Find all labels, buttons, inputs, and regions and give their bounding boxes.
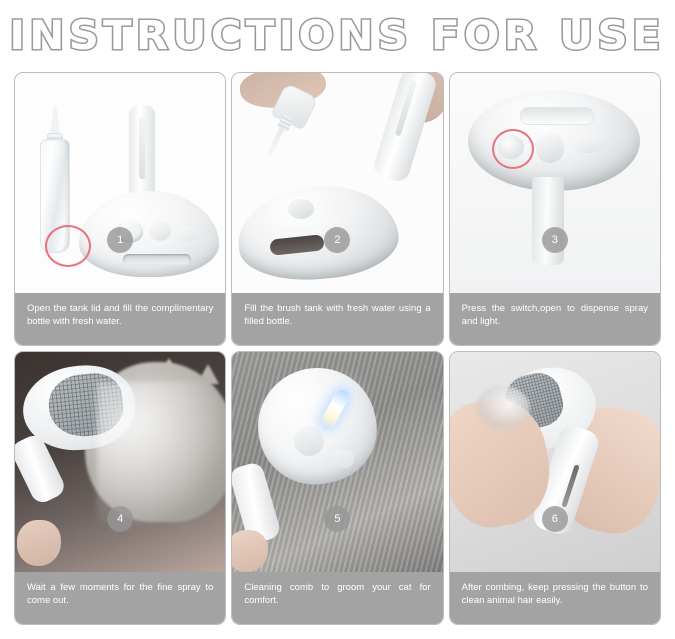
highlight-ring-icon bbox=[45, 225, 91, 267]
steps-grid: 1 Open the tank lid and fill the complim… bbox=[0, 72, 675, 639]
page-title: INSTRUCTIONS FOR USE bbox=[10, 13, 665, 59]
brush-vent-icon bbox=[520, 107, 594, 125]
step-caption-3: Press the switch,open to dispense spray … bbox=[450, 293, 660, 345]
step-caption-5: Cleaning comb to groom your cat for comf… bbox=[232, 572, 442, 624]
header: INSTRUCTIONS FOR USE bbox=[0, 0, 675, 72]
hand-icon bbox=[17, 520, 61, 566]
step-photo-2: 2 bbox=[232, 73, 442, 293]
step-badge-6: 6 bbox=[542, 506, 568, 532]
step-card-5: 5 Cleaning comb to groom your cat for co… bbox=[231, 351, 443, 625]
step-card-6: 6 After combing, keep pressing the butto… bbox=[449, 351, 661, 625]
step-caption-6: After combing, keep pressing the button … bbox=[450, 572, 660, 624]
step-badge-3: 3 bbox=[542, 227, 568, 253]
brush-button-icon bbox=[330, 450, 354, 468]
step-card-3: 3 Press the switch,open to dispense spra… bbox=[449, 72, 661, 346]
brush-handle-slot-icon bbox=[139, 117, 145, 179]
step-card-1: 1 Open the tank lid and fill the complim… bbox=[14, 72, 226, 346]
step-photo-5: 5 bbox=[232, 352, 442, 572]
brush-handle-icon bbox=[371, 73, 438, 184]
step-caption-2: Fill the brush tank with fresh water usi… bbox=[232, 293, 442, 345]
step-card-4: 4 Wait a few moments for the fine spray … bbox=[14, 351, 226, 625]
step-photo-4: 4 bbox=[15, 352, 225, 572]
step-caption-1: Open the tank lid and fill the complimen… bbox=[15, 293, 225, 345]
step-photo-1: 1 bbox=[15, 73, 225, 293]
pet-brush-illustration bbox=[79, 105, 219, 277]
step-badge-4: 4 bbox=[107, 506, 133, 532]
brush-head-icon bbox=[248, 357, 388, 495]
step-badge-1: 1 bbox=[107, 227, 133, 253]
bottle-tip-icon bbox=[267, 126, 286, 157]
step-caption-4: Wait a few moments for the fine spray to… bbox=[15, 572, 225, 624]
step-card-2: 2 Fill the brush tank with fresh water u… bbox=[231, 72, 443, 346]
brush-vent-icon bbox=[123, 254, 191, 265]
brush-base-icon bbox=[235, 180, 402, 286]
hand-icon bbox=[232, 530, 268, 572]
brush-button-icon bbox=[177, 227, 197, 241]
instructions-infographic: INSTRUCTIONS FOR USE bbox=[0, 0, 675, 639]
step-photo-6: 6 bbox=[450, 352, 660, 572]
step-photo-3: 3 bbox=[450, 73, 660, 293]
brush-button-icon bbox=[574, 135, 602, 153]
step-badge-5: 5 bbox=[324, 506, 350, 532]
step-badge-2: 2 bbox=[324, 227, 350, 253]
highlight-ring-icon bbox=[492, 129, 534, 169]
brush-knob-icon bbox=[536, 133, 564, 163]
collected-pet-hair-icon bbox=[476, 386, 530, 430]
